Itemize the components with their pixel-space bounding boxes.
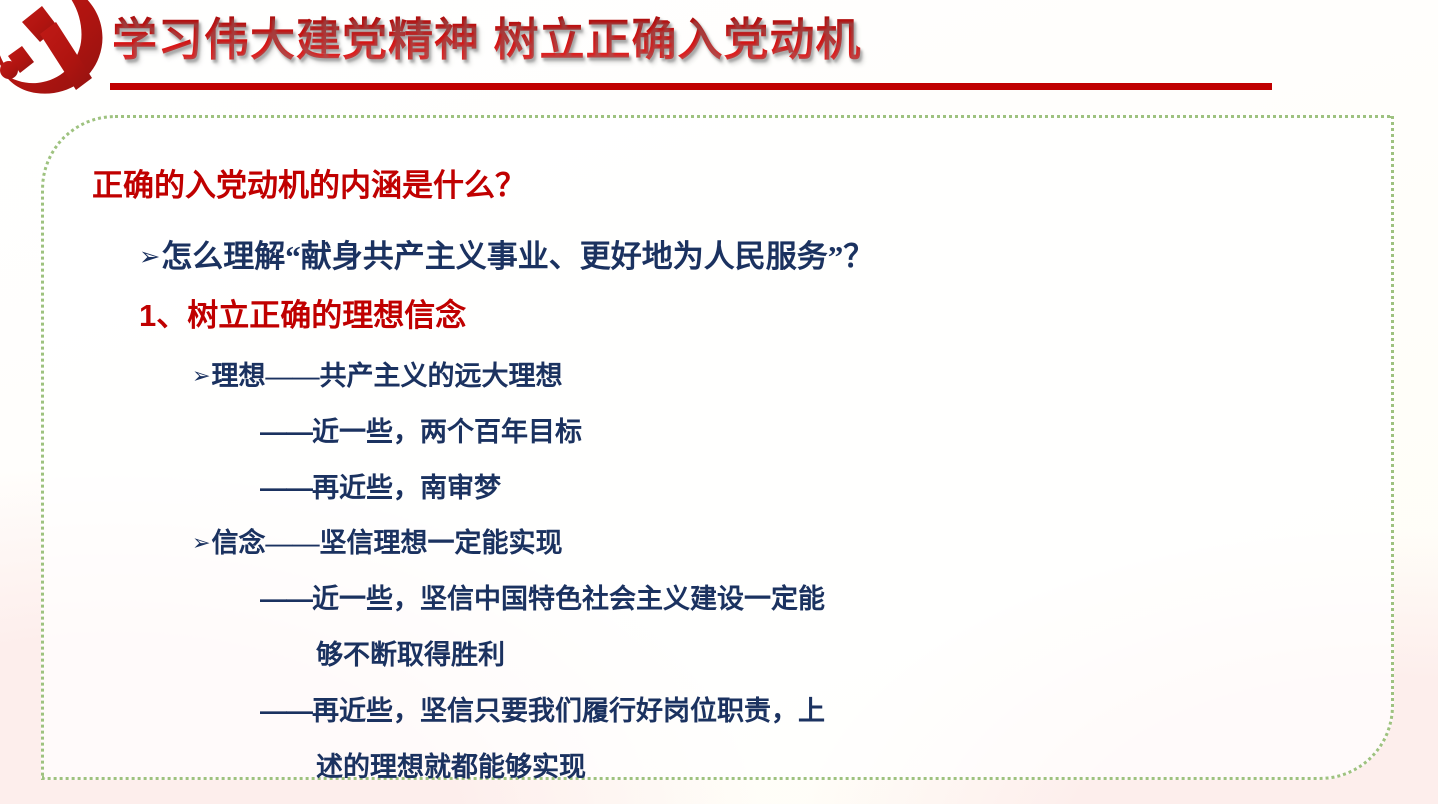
arrow-bullet-icon: ➢	[192, 530, 211, 556]
arrow-bullet-icon: ➢	[139, 241, 160, 271]
list-item: ➢理想——共产主义的远大理想	[192, 363, 563, 390]
em-dash-prefix: ——	[260, 696, 312, 726]
hammer-and-sickle-icon	[0, 0, 114, 102]
slide-header: 学习伟大建党精神 树立正确入党动机	[0, 0, 1438, 104]
sub-list-item-label: 再近些，南审梦	[312, 473, 501, 503]
em-dash-prefix: ——	[260, 417, 312, 447]
sub-list-item-continuation: 够不断取得胜利	[316, 642, 505, 669]
arrow-bullet-icon: ➢	[192, 363, 211, 389]
content-heading: 正确的入党动机的内涵是什么？	[92, 170, 526, 201]
sub-list-item-label: 述的理想就都能够实现	[316, 752, 586, 782]
item-number-separator: 、	[156, 298, 187, 333]
numbered-item-label: 树立正确的理想信念	[187, 298, 466, 333]
sub-list-item-label: 近一些，坚信中国特色社会主义建设一定能	[312, 584, 825, 614]
content-frame: 正确的入党动机的内涵是什么？ ➢怎么理解“献身共产主义事业、更好地为人民服务”？…	[41, 115, 1394, 780]
content-body: 正确的入党动机的内涵是什么？ ➢怎么理解“献身共产主义事业、更好地为人民服务”？…	[44, 118, 1397, 783]
list-item: ➢信念——坚信理想一定能实现	[192, 530, 563, 557]
list-item-label: 理想——共产主义的远大理想	[212, 361, 563, 391]
em-dash-prefix: ——	[260, 473, 312, 503]
sub-list-item: ——近一些，坚信中国特色社会主义建设一定能	[260, 586, 825, 613]
slide-root: 学习伟大建党精神 树立正确入党动机 正确的入党动机的内涵是什么？ ➢怎么理解“献…	[0, 0, 1438, 804]
numbered-item: 1、树立正确的理想信念	[139, 300, 466, 331]
sub-list-item: ——再近些，坚信只要我们履行好岗位职责，上	[260, 698, 825, 725]
list-item: ➢怎么理解“献身共产主义事业、更好地为人民服务”？	[139, 241, 874, 272]
list-item-label: 信念——坚信理想一定能实现	[212, 528, 563, 558]
list-item-label: 怎么理解“献身共产主义事业、更好地为人民服务”？	[161, 239, 874, 274]
sub-list-item-label: 再近些，坚信只要我们履行好岗位职责，上	[312, 696, 825, 726]
page-title: 学习伟大建党精神 树立正确入党动机	[112, 8, 862, 72]
title-underline-rule	[110, 83, 1272, 90]
sub-list-item: ——近一些，两个百年目标	[260, 419, 582, 446]
sub-list-item-continuation: 述的理想就都能够实现	[316, 754, 586, 781]
sub-list-item-label: 近一些，两个百年目标	[312, 417, 582, 447]
sub-list-item-label: 够不断取得胜利	[316, 640, 505, 670]
sub-list-item: ——再近些，南审梦	[260, 475, 501, 502]
item-number: 1	[139, 298, 156, 333]
em-dash-prefix: ——	[260, 584, 312, 614]
